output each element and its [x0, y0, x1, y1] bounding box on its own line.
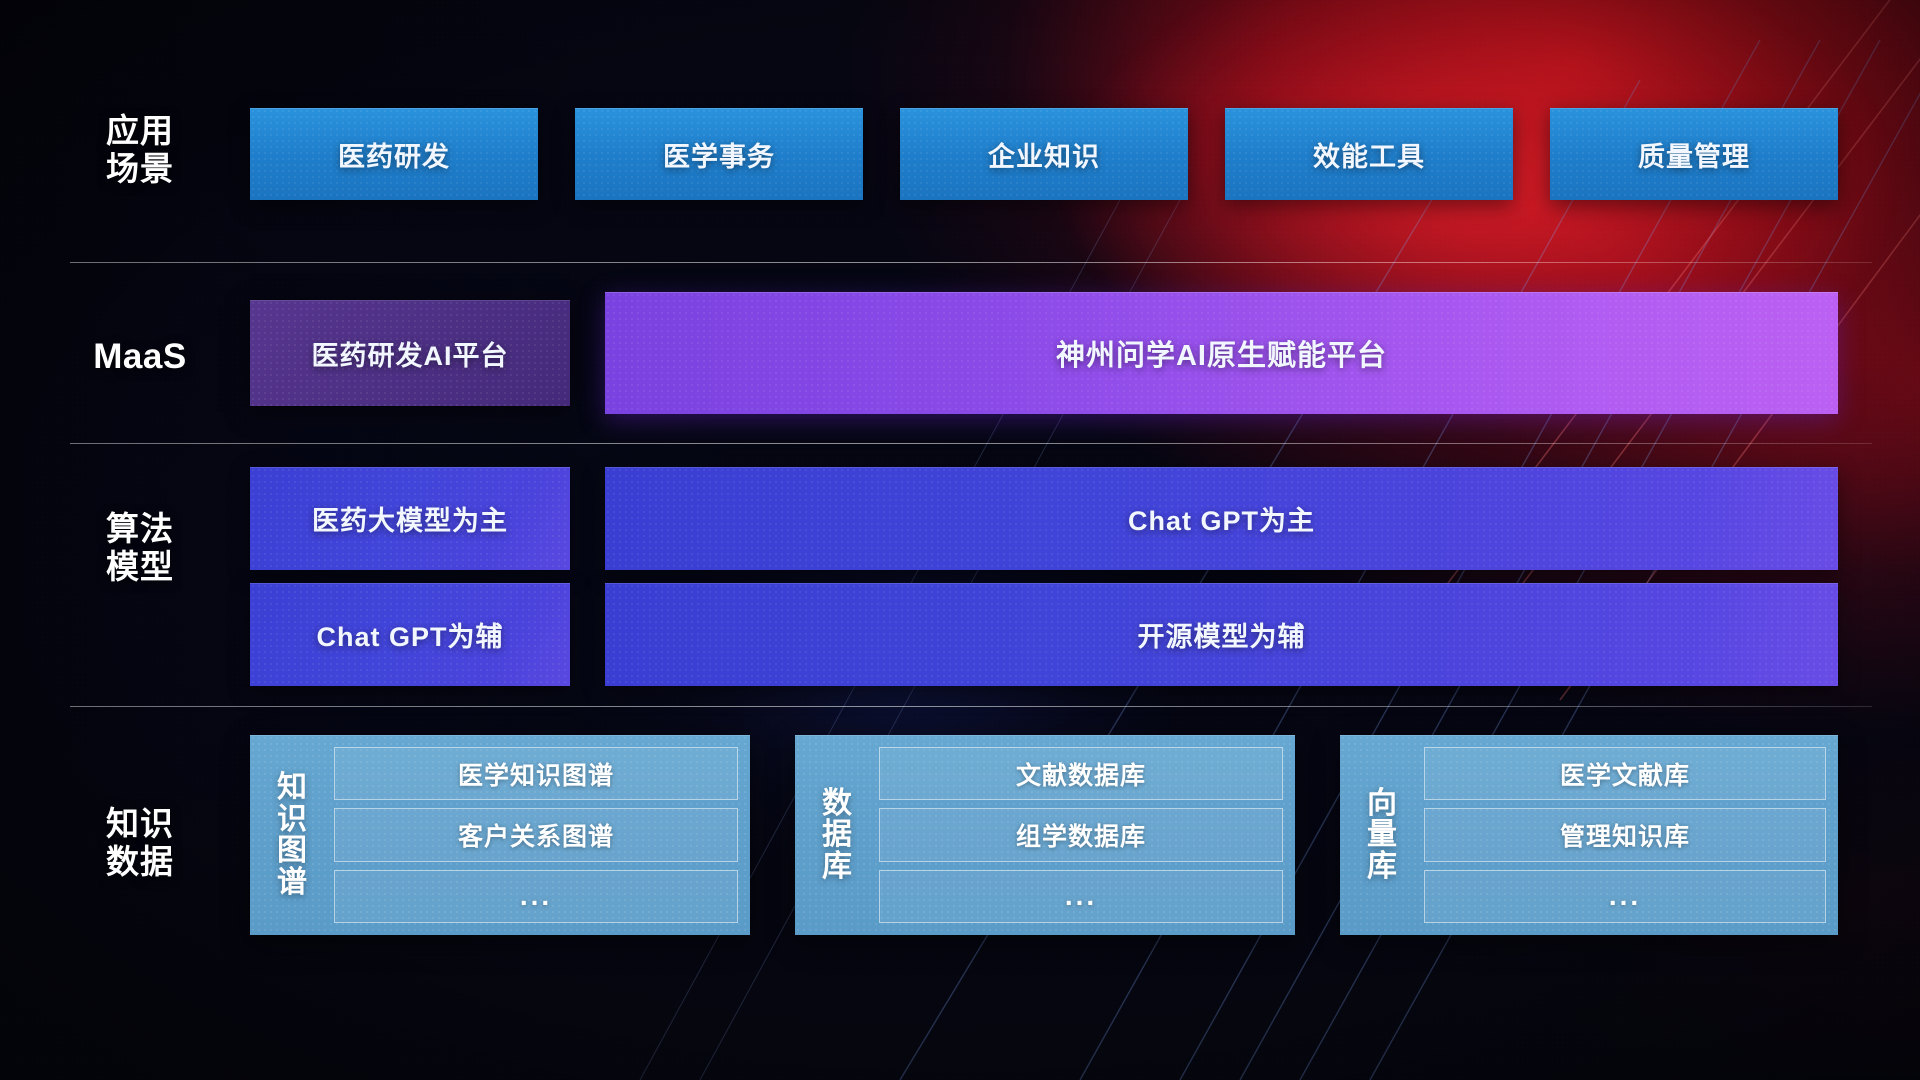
- knowledge-panel-title-char: 量: [1367, 819, 1397, 851]
- divider-maas-algorithm: [70, 443, 1872, 444]
- app-box-label: 效能工具: [1313, 135, 1425, 174]
- knowledge-panel-title-char: 图: [277, 835, 307, 867]
- row-label-knowledge: 知识 数据: [70, 805, 210, 880]
- knowledge-panel-title-char: 库: [1367, 851, 1397, 883]
- maas-box-pharma-ai-platform[interactable]: 医药研发AI平台: [250, 300, 570, 406]
- knowledge-item[interactable]: 文献数据库: [879, 747, 1283, 800]
- knowledge-panel-title: 向 量 库: [1354, 747, 1410, 923]
- knowledge-panel-title: 知 识 图 谱: [264, 747, 320, 923]
- knowledge-item[interactable]: 管理知识库: [1424, 808, 1826, 861]
- app-box-efficiency-tools[interactable]: 效能工具: [1225, 108, 1513, 200]
- knowledge-panel-title-char: 据: [822, 819, 852, 851]
- knowledge-panel-items: 文献数据库 组学数据库 ...: [879, 747, 1283, 923]
- app-box-quality-management[interactable]: 质量管理: [1550, 108, 1838, 200]
- knowledge-item[interactable]: 医学文献库: [1424, 747, 1826, 800]
- app-box-enterprise-knowledge[interactable]: 企业知识: [900, 108, 1188, 200]
- app-box-label: 企业知识: [988, 135, 1100, 174]
- row-label-application-line2: 场景: [70, 150, 210, 188]
- diagram-content: 应用 场景 医药研发 医学事务 企业知识 效能工具 质量管理 MaaS: [0, 0, 1920, 1080]
- row-label-application-line1: 应用: [70, 112, 210, 150]
- knowledge-panel-title-char: 库: [822, 851, 852, 883]
- row-label-knowledge-line2: 数据: [70, 843, 210, 881]
- algo-box-label: Chat GPT为主: [1128, 499, 1315, 538]
- knowledge-panel-knowledge-graph[interactable]: 知 识 图 谱 医学知识图谱 客户关系图谱 ...: [250, 735, 750, 935]
- knowledge-panel-title: 数 据 库: [809, 747, 865, 923]
- algo-box-chatgpt-secondary[interactable]: Chat GPT为辅: [250, 583, 570, 686]
- app-box-medical-affairs[interactable]: 医学事务: [575, 108, 863, 200]
- algo-box-label: 开源模型为辅: [1138, 615, 1306, 654]
- divider-application-maas: [70, 262, 1872, 263]
- knowledge-item-more[interactable]: ...: [1424, 870, 1826, 923]
- maas-box-label: 医药研发AI平台: [312, 334, 509, 373]
- app-box-medicine-rd[interactable]: 医药研发: [250, 108, 538, 200]
- divider-algorithm-knowledge: [70, 706, 1872, 707]
- knowledge-panel-title-char: 数: [822, 788, 852, 820]
- app-box-label: 质量管理: [1638, 135, 1750, 174]
- knowledge-item-more[interactable]: ...: [334, 870, 738, 923]
- knowledge-panel-database[interactable]: 数 据 库 文献数据库 组学数据库 ...: [795, 735, 1295, 935]
- row-label-algorithm: 算法 模型: [70, 510, 210, 585]
- knowledge-panel-title-char: 向: [1367, 788, 1397, 820]
- row-label-algorithm-line2: 模型: [70, 548, 210, 586]
- knowledge-panel-vector-store[interactable]: 向 量 库 医学文献库 管理知识库 ...: [1340, 735, 1838, 935]
- app-box-label: 医学事务: [663, 135, 775, 174]
- row-label-algorithm-line1: 算法: [70, 510, 210, 548]
- algo-box-label: 医药大模型为主: [312, 499, 508, 538]
- algo-box-pharma-large-model-primary[interactable]: 医药大模型为主: [250, 467, 570, 570]
- maas-box-label: 神州问学AI原生赋能平台: [1056, 332, 1387, 374]
- knowledge-panel-title-char: 识: [277, 804, 307, 836]
- row-label-maas-text: MaaS: [70, 337, 210, 377]
- knowledge-panel-title-char: 知: [277, 772, 307, 804]
- algo-box-chatgpt-primary[interactable]: Chat GPT为主: [605, 467, 1838, 570]
- knowledge-item[interactable]: 医学知识图谱: [334, 747, 738, 800]
- algo-box-opensource-secondary[interactable]: 开源模型为辅: [605, 583, 1838, 686]
- row-label-application: 应用 场景: [70, 112, 210, 187]
- maas-box-shenzhou-wenxue-platform[interactable]: 神州问学AI原生赋能平台: [605, 292, 1838, 414]
- app-box-label: 医药研发: [338, 135, 450, 174]
- row-label-knowledge-line1: 知识: [70, 805, 210, 843]
- slide-canvas: 应用 场景 医药研发 医学事务 企业知识 效能工具 质量管理 MaaS: [0, 0, 1920, 1080]
- knowledge-panel-items: 医学知识图谱 客户关系图谱 ...: [334, 747, 738, 923]
- knowledge-item[interactable]: 组学数据库: [879, 808, 1283, 861]
- knowledge-panel-items: 医学文献库 管理知识库 ...: [1424, 747, 1826, 923]
- knowledge-item[interactable]: 客户关系图谱: [334, 808, 738, 861]
- knowledge-panel-title-char: 谱: [277, 867, 307, 899]
- row-label-maas: MaaS: [70, 337, 210, 377]
- algo-box-label: Chat GPT为辅: [316, 615, 503, 654]
- knowledge-item-more[interactable]: ...: [879, 870, 1283, 923]
